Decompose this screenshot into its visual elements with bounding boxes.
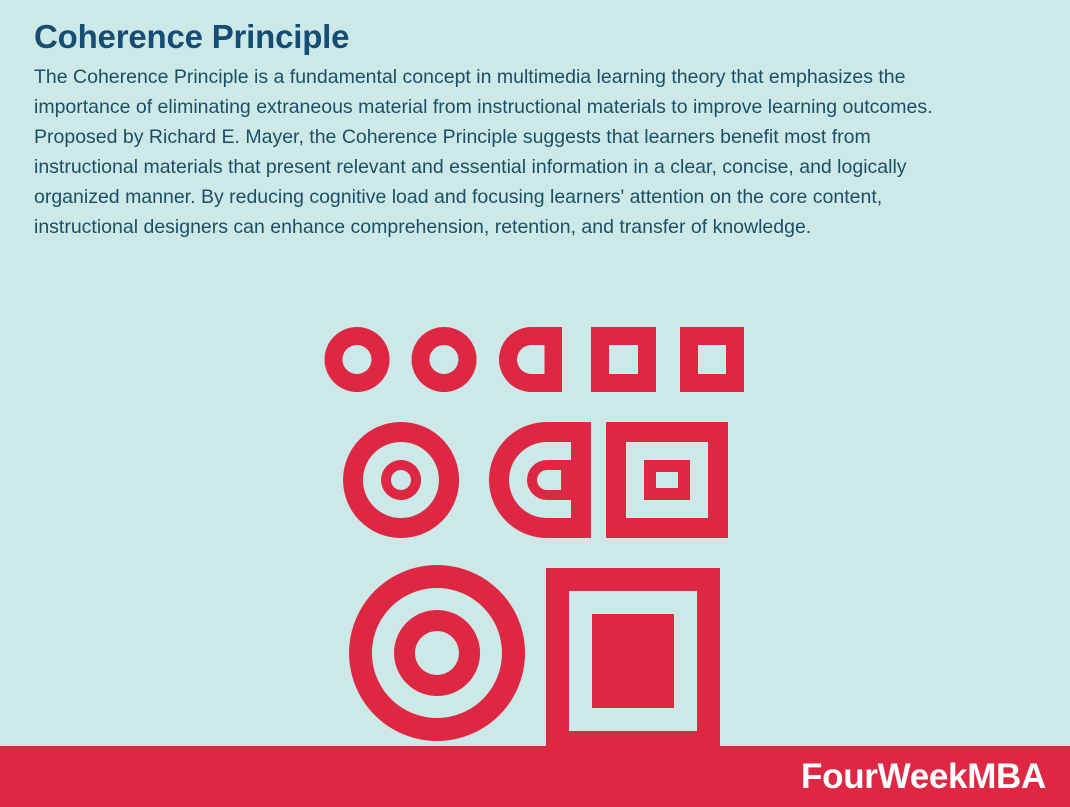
large-concentric-square bbox=[546, 568, 720, 754]
page-title: Coherence Principle bbox=[34, 16, 934, 58]
footer-bar: FourWeekMBA bbox=[0, 746, 1070, 807]
small-ring-circle-1 bbox=[325, 327, 390, 392]
small-ring-circle-2 bbox=[412, 327, 477, 392]
brand-logo-text: FourWeekMBA bbox=[801, 757, 1046, 797]
body-paragraph: The Coherence Principle is a fundamental… bbox=[34, 62, 934, 242]
text-block: Coherence Principle The Coherence Princi… bbox=[34, 16, 934, 242]
medium-concentric-square bbox=[606, 422, 728, 538]
abstract-shapes-illustration bbox=[0, 300, 1070, 760]
medium-concentric-d-shape bbox=[489, 422, 591, 538]
small-ring-d-shape bbox=[499, 327, 562, 392]
small-ring-square-2 bbox=[680, 327, 744, 392]
small-ring-square-1 bbox=[591, 327, 656, 392]
shapes-svg bbox=[0, 300, 1070, 760]
slide-canvas: Coherence Principle The Coherence Princi… bbox=[0, 0, 1070, 807]
medium-concentric-circle bbox=[343, 422, 459, 538]
large-concentric-circle bbox=[349, 565, 525, 741]
